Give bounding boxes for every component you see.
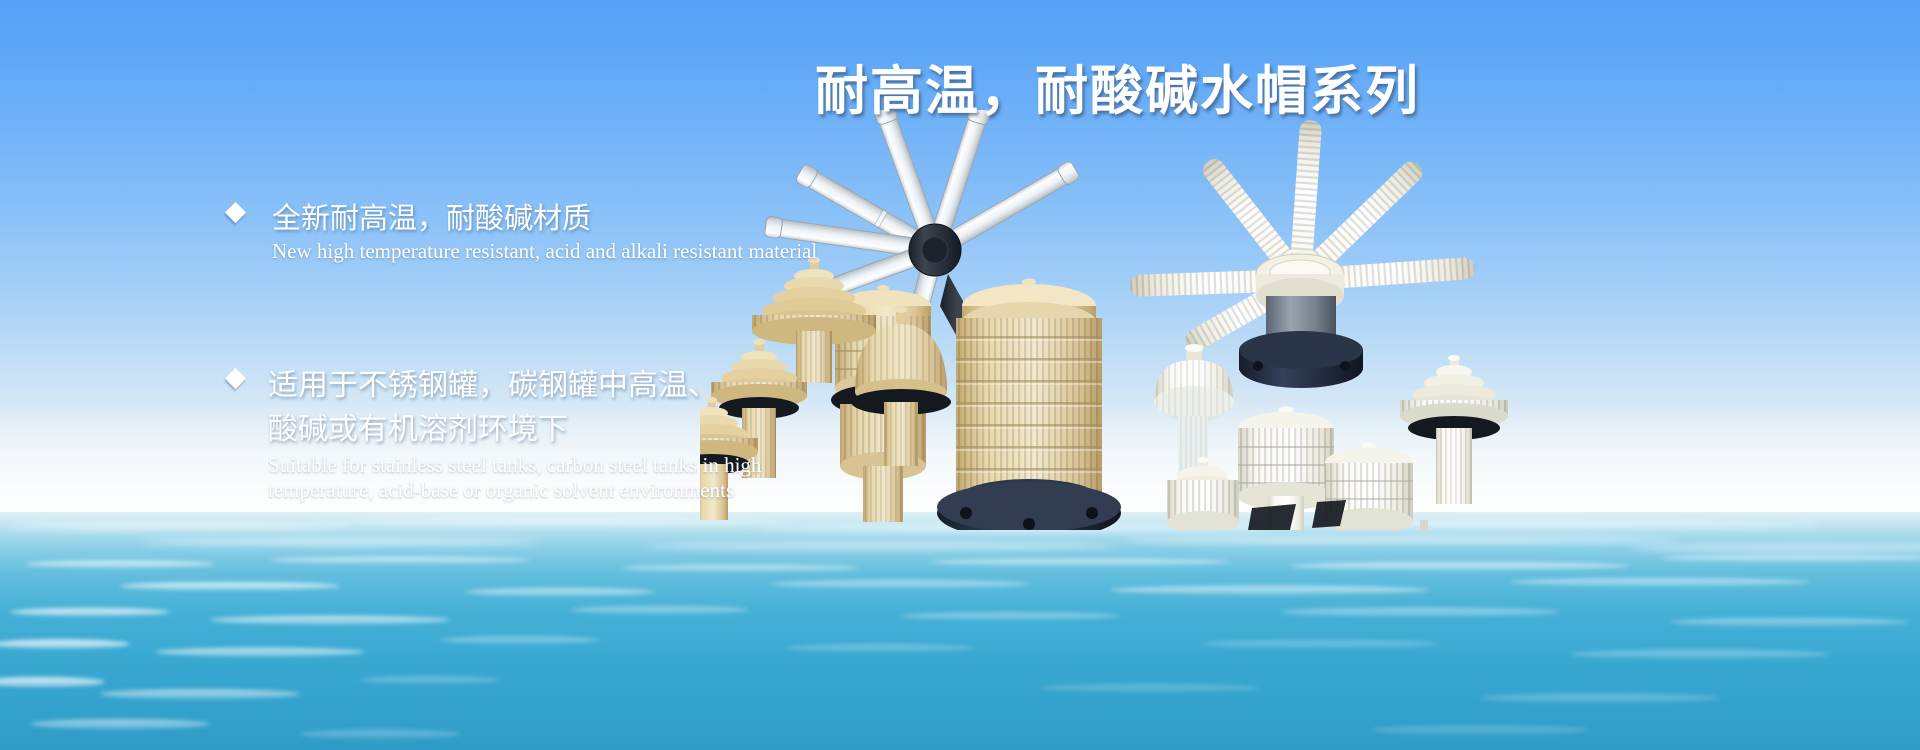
feature-item-2: 适用于不锈钢罐，碳钢罐中高温、 酸碱或有机溶剂环境下 Suitable for … <box>228 364 1048 503</box>
diamond-bullet-icon <box>225 368 246 389</box>
water-ripples <box>0 512 1920 750</box>
feature-2-title-cn: 适用于不锈钢罐，碳钢罐中高温、 酸碱或有机溶剂环境下 <box>268 364 1048 452</box>
feature-list: 全新耐高温，耐酸碱材质 New high temperature resista… <box>228 198 1048 503</box>
diamond-bullet-icon <box>225 202 246 223</box>
product-banner: 耐高温，耐酸碱水帽系列 全新耐高温，耐酸碱材质 New high tempera… <box>0 0 1920 750</box>
feature-2-title-en: Suitable for stainless steel tanks, carb… <box>268 453 1048 503</box>
water-background <box>0 512 1920 750</box>
nozzle-stub-right <box>1420 520 1428 530</box>
feature-item-1: 全新耐高温，耐酸碱材质 New high temperature resista… <box>228 198 1048 264</box>
feature-1-title-en: New high temperature resistant, acid and… <box>272 239 1048 264</box>
cream-sphere-nozzle <box>1154 344 1234 482</box>
white-stepped-cone-right <box>1400 355 1508 504</box>
page-title: 耐高温，耐酸碱水帽系列 <box>815 62 1420 123</box>
corrugated-tube-star-assembly <box>1130 120 1476 388</box>
feature-1-title-cn: 全新耐高温，耐酸碱材质 <box>272 198 1048 238</box>
cream-small-nozzle <box>1167 457 1239 530</box>
